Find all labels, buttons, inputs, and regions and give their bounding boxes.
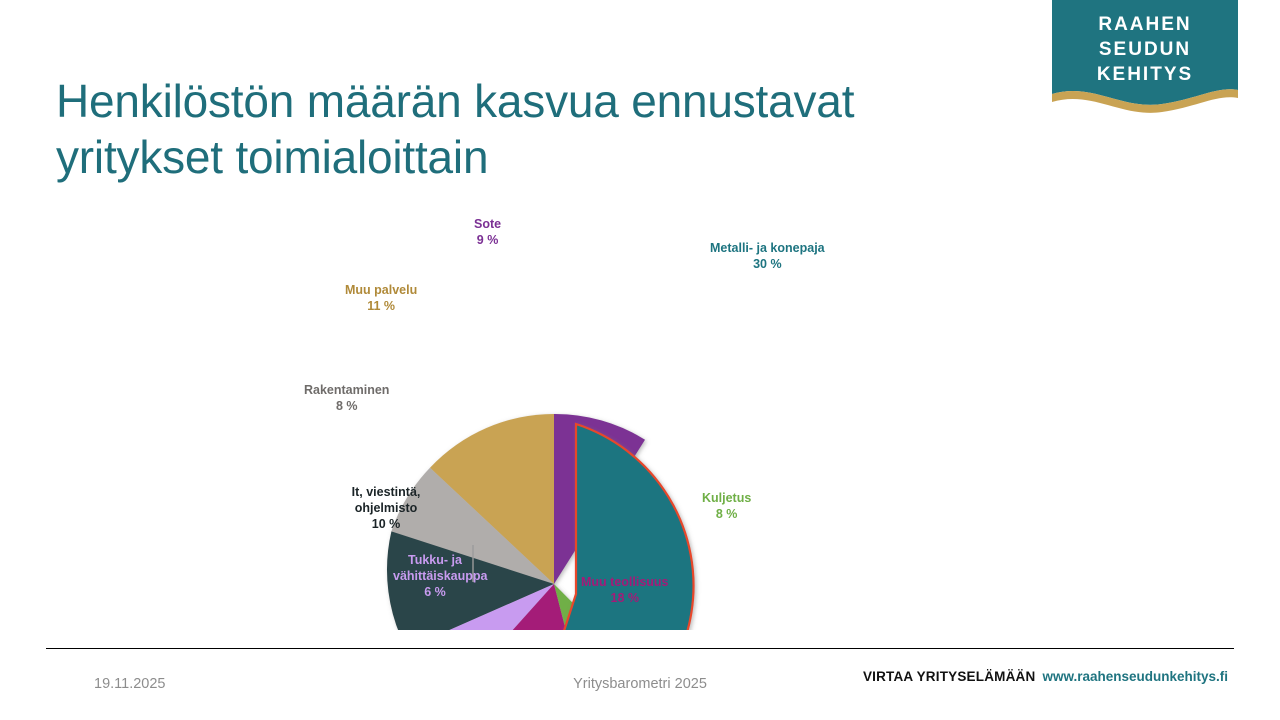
logo-wordmark: RAAHEN SEUDUN KEHITYS [1052, 12, 1238, 87]
label-sote-pct: 9 % [474, 232, 501, 248]
company-logo: RAAHEN SEUDUN KEHITYS [1052, 0, 1238, 120]
label-it-line-1: It, viestintä, [352, 485, 421, 499]
label-it-viestinta-ohjelmisto: It, viestintä, ohjelmisto 10 % [334, 484, 438, 532]
label-tukku-line-2: vähittäiskauppa [393, 568, 477, 584]
footer-branding: VIRTAA YRITYSELÄMÄÄNwww.raahenseudunkehi… [863, 669, 1228, 684]
footer-url[interactable]: www.raahenseudunkehitys.fi [1042, 669, 1228, 684]
label-rakentaminen-name: Rakentaminen [304, 383, 389, 397]
logo-line-3: KEHITYS [1052, 62, 1238, 87]
label-tukku-pct: 6 % [393, 584, 477, 600]
label-sote-name: Sote [474, 217, 501, 231]
label-rakentaminen: Rakentaminen 8 % [304, 382, 389, 414]
label-muu-palvelu: Muu palvelu 11 % [345, 282, 417, 314]
label-muu-teollisuus-name: Muu teollisuus [581, 575, 669, 589]
logo-line-2: SEUDUN [1052, 37, 1238, 62]
label-metalli-pct: 30 % [710, 256, 825, 272]
label-metalli-name: Metalli- ja konepaja [710, 241, 825, 255]
label-tukku-ja-vahittaiskauppa: Tukku- ja vähittäiskauppa 6 % [393, 552, 477, 600]
label-kuljetus: Kuljetus 8 % [702, 490, 751, 522]
footer-divider [46, 648, 1234, 649]
pie-chart-svg [0, 170, 1280, 630]
footer-slogan: VIRTAA YRITYSELÄMÄÄN [863, 669, 1036, 684]
label-muu-teollisuus-pct: 18 % [581, 590, 669, 606]
label-tukku-line-1: Tukku- ja [408, 553, 462, 567]
pie-chart: Metalli- ja konepaja 30 % Kuljetus 8 % M… [0, 170, 1280, 630]
label-kuljetus-pct: 8 % [702, 506, 751, 522]
label-muu-palvelu-pct: 11 % [345, 298, 417, 314]
label-rakentaminen-pct: 8 % [304, 398, 389, 414]
label-sote: Sote 9 % [474, 216, 501, 248]
label-metalli-ja-konepaja: Metalli- ja konepaja 30 % [710, 240, 825, 272]
label-it-pct: 10 % [334, 516, 438, 532]
label-kuljetus-name: Kuljetus [702, 491, 751, 505]
logo-line-1: RAAHEN [1052, 12, 1238, 37]
slide-title: Henkilöstön määrän kasvua ennustavat yri… [56, 73, 1006, 185]
label-muu-palvelu-name: Muu palvelu [345, 283, 417, 297]
label-it-line-2: ohjelmisto [334, 500, 438, 516]
label-muu-teollisuus: Muu teollisuus 18 % [581, 574, 669, 606]
